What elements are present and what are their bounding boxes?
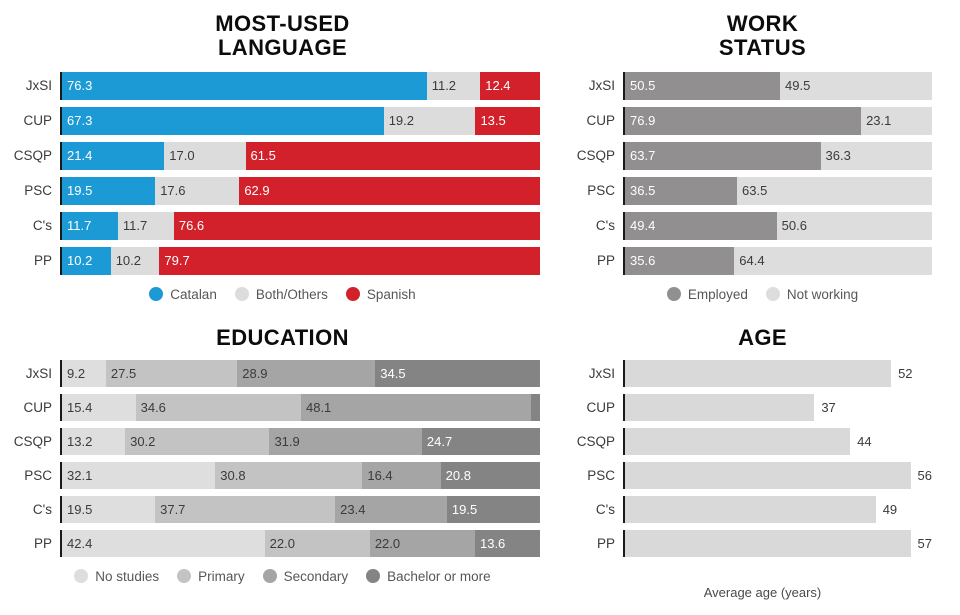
bar-track: 44 (623, 428, 932, 455)
bar-segment-spanish: 12.4 (480, 72, 539, 100)
bar-segment-primary: 30.2 (125, 428, 269, 455)
bar-value-label: 19.2 (384, 113, 414, 128)
bar-segment-bachelor-or-more: 13.6 (475, 530, 540, 557)
chart-row: PP42.422.022.013.6 (0, 528, 565, 559)
chart-row: CSQP13.230.231.924.7 (0, 426, 565, 457)
chart-row: JxSI52 (565, 358, 960, 389)
row-label-jxsi: JxSI (0, 366, 60, 381)
bar-value-label: 50.6 (777, 218, 807, 233)
bar-segment-primary: 30.8 (215, 462, 362, 489)
bar-track: 42.422.022.013.6 (60, 530, 540, 557)
row-label-psc: PSC (0, 468, 60, 483)
chart-title-language-line1: MOST-USED (0, 12, 565, 36)
chart-row: CSQP63.736.3 (565, 140, 960, 172)
chart-title-age: AGE (565, 310, 960, 350)
chart-row: PSC36.563.5 (565, 175, 960, 207)
chart-row: CUP76.923.1 (565, 105, 960, 137)
bar-track: 35.664.4 (623, 247, 932, 275)
bar-segment-both-others: 11.7 (118, 212, 174, 240)
bar-track: 21.417.061.5 (60, 142, 540, 170)
chart-row: PP57 (565, 528, 960, 559)
bar-value-label: 31.9 (269, 434, 299, 449)
bar-segment-bachelor-or-more (531, 394, 540, 421)
chart-row: PP10.210.279.7 (0, 245, 565, 277)
bar-track: 56 (623, 462, 932, 489)
bar-segment-bachelor-or-more: 34.5 (375, 360, 540, 387)
chart-row: CSQP21.417.061.5 (0, 140, 565, 172)
bar-value-label: 49 (876, 496, 897, 523)
bar-value-label: 17.0 (164, 148, 194, 163)
chart-title-age-line1: AGE (565, 326, 960, 350)
bar-track: 76.923.1 (623, 107, 932, 135)
chart-row: C's49.450.6 (565, 210, 960, 242)
bar-segment-not-working: 49.5 (780, 72, 932, 100)
bar-value-label: 63.7 (625, 148, 655, 163)
bar-segment-not-working: 23.1 (861, 107, 932, 135)
bar-segment-spanish: 79.7 (159, 247, 540, 275)
bar-segment-primary: 37.7 (155, 496, 335, 523)
bar-segment-catalan: 21.4 (62, 142, 164, 170)
chart-row: PSC56 (565, 460, 960, 491)
bar-value-label: 30.8 (215, 468, 245, 483)
bar-track: 57 (623, 530, 932, 557)
bar-value-label: 24.7 (422, 434, 452, 449)
row-label-pp: PP (565, 536, 623, 551)
bar-value-label: 37 (814, 394, 835, 421)
bar-segment-secondary: 22.0 (370, 530, 475, 557)
row-label-cup: CUP (0, 400, 60, 415)
bar-value-label: 36.5 (625, 183, 655, 198)
bar-value-label: 28.9 (237, 366, 267, 381)
chart-row: JxSI76.311.212.4 (0, 70, 565, 102)
row-label-cup: CUP (565, 113, 623, 128)
bar-value-label: 22.0 (370, 536, 400, 551)
row-label-cup: CUP (565, 400, 623, 415)
bar-value-label: 11.7 (62, 218, 91, 233)
bar-segment-primary: 22.0 (265, 530, 370, 557)
bar-segment-catalan: 10.2 (62, 247, 111, 275)
legend-language: CatalanBoth/OthersSpanish (0, 287, 565, 302)
bar-value-label: 76.6 (174, 218, 204, 233)
bar-segment-spanish: 76.6 (174, 212, 540, 240)
chart-row: JxSI50.549.5 (565, 70, 960, 102)
chart-panel-work-status: WORK STATUS JxSI50.549.5CUP76.923.1CSQP6… (565, 0, 960, 310)
chart-panel-language: MOST-USED LANGUAGE JxSI76.311.212.4CUP67… (0, 0, 565, 310)
bar-segment-catalan: 76.3 (62, 72, 427, 100)
legend-label: Both/Others (256, 287, 328, 302)
plot-area-language: JxSI76.311.212.4CUP67.319.213.5CSQP21.41… (0, 70, 565, 277)
bar-track: 76.311.212.4 (60, 72, 540, 100)
age-bar (625, 530, 911, 557)
bar-segment-employed: 76.9 (625, 107, 861, 135)
bar-value-label: 9.2 (62, 366, 85, 381)
bar-segment-employed: 63.7 (625, 142, 821, 170)
bar-segment-no-studies: 42.4 (62, 530, 265, 557)
age-bar (625, 462, 911, 489)
bar-value-label: 10.2 (62, 253, 92, 268)
axis-caption-age: Average age (years) (565, 585, 960, 600)
row-label-pp: PP (565, 253, 623, 268)
row-label-cs: C's (565, 218, 623, 233)
row-label-cup: CUP (0, 113, 60, 128)
bar-value-label: 23.1 (861, 113, 891, 128)
legend-swatch-icon (74, 569, 88, 583)
bar-segment-both-others: 19.2 (384, 107, 476, 135)
age-bar (625, 496, 876, 523)
bar-track: 32.130.816.420.8 (60, 462, 540, 489)
row-label-jxsi: JxSI (565, 366, 623, 381)
bar-value-label: 49.5 (780, 78, 810, 93)
bar-value-label: 19.5 (447, 502, 477, 517)
bar-value-label: 61.5 (246, 148, 276, 163)
bar-value-label: 13.6 (475, 536, 505, 551)
bar-track: 19.537.723.419.5 (60, 496, 540, 523)
row-label-csqp: CSQP (0, 148, 60, 163)
chart-title-language-line2: LANGUAGE (0, 36, 565, 60)
bar-value-label: 35.6 (625, 253, 655, 268)
bar-segment-spanish: 13.5 (475, 107, 540, 135)
bar-segment-employed: 35.6 (625, 247, 734, 275)
legend-swatch-icon (346, 287, 360, 301)
bar-value-label: 52 (891, 360, 912, 387)
bar-value-label: 56 (911, 462, 932, 489)
bar-value-label: 21.4 (62, 148, 92, 163)
chart-row: C's49 (565, 494, 960, 525)
bar-value-label: 34.6 (136, 400, 166, 415)
bar-value-label: 34.5 (375, 366, 405, 381)
bar-value-label: 67.3 (62, 113, 92, 128)
row-label-psc: PSC (0, 183, 60, 198)
bar-track: 37 (623, 394, 932, 421)
bar-value-label: 76.3 (62, 78, 92, 93)
age-bar (625, 394, 814, 421)
chart-row: CSQP44 (565, 426, 960, 457)
row-label-jxsi: JxSI (565, 78, 623, 93)
bar-segment-not-working: 63.5 (737, 177, 932, 205)
bar-track: 63.736.3 (623, 142, 932, 170)
bar-segment-no-studies: 15.4 (62, 394, 136, 421)
legend-swatch-icon (235, 287, 249, 301)
chart-title-education: EDUCATION (0, 310, 565, 350)
bar-value-label: 36.3 (821, 148, 851, 163)
bar-segment-secondary: 23.4 (335, 496, 447, 523)
row-label-psc: PSC (565, 183, 623, 198)
bar-value-label: 11.7 (118, 218, 147, 233)
bar-segment-catalan: 11.7 (62, 212, 118, 240)
chart-row: C's11.711.776.6 (0, 210, 565, 242)
bar-segment-primary: 34.6 (136, 394, 301, 421)
legend-swatch-icon (177, 569, 191, 583)
legend-item-primary: Primary (177, 569, 245, 584)
bar-segment-no-studies: 9.2 (62, 360, 106, 387)
bar-value-label: 37.7 (155, 502, 185, 517)
chart-row: PSC19.517.662.9 (0, 175, 565, 207)
chart-title-language: MOST-USED LANGUAGE (0, 0, 565, 60)
bar-value-label: 62.9 (239, 183, 269, 198)
bar-value-label: 50.5 (625, 78, 655, 93)
bar-segment-both-others: 10.2 (111, 247, 160, 275)
chart-panel-education: EDUCATION JxSI9.227.528.934.5CUP15.434.6… (0, 310, 565, 615)
bar-segment-no-studies: 13.2 (62, 428, 125, 455)
bar-segment-catalan: 19.5 (62, 177, 155, 205)
legend-item-not-working: Not working (766, 287, 858, 302)
bar-value-label: 19.5 (62, 183, 92, 198)
chart-panel-age: AGE JxSI52CUP37CSQP44PSC56C's49PP57 Aver… (565, 310, 960, 615)
chart-row: JxSI9.227.528.934.5 (0, 358, 565, 389)
bar-value-label: 48.1 (301, 400, 331, 415)
chart-row: CUP37 (565, 392, 960, 423)
bar-value-label: 32.1 (62, 468, 92, 483)
legend-label: Spanish (367, 287, 416, 302)
chart-row: CUP15.434.648.1 (0, 392, 565, 423)
bar-value-label: 11.2 (427, 78, 456, 93)
legend-item-secondary: Secondary (263, 569, 349, 584)
legend-item-no-studies: No studies (74, 569, 159, 584)
bar-track: 19.517.662.9 (60, 177, 540, 205)
bar-segment-spanish: 62.9 (239, 177, 540, 205)
bar-track: 10.210.279.7 (60, 247, 540, 275)
plot-area-education: JxSI9.227.528.934.5CUP15.434.648.1CSQP13… (0, 358, 565, 559)
legend-swatch-icon (263, 569, 277, 583)
bar-value-label: 44 (850, 428, 871, 455)
bar-segment-bachelor-or-more: 19.5 (447, 496, 540, 523)
bar-value-label: 19.5 (62, 502, 92, 517)
bar-track: 15.434.648.1 (60, 394, 540, 421)
bar-value-label: 76.9 (625, 113, 655, 128)
infographic-page: MOST-USED LANGUAGE JxSI76.311.212.4CUP67… (0, 0, 960, 615)
bar-segment-employed: 36.5 (625, 177, 737, 205)
bar-value-label: 16.4 (362, 468, 392, 483)
row-label-psc: PSC (565, 468, 623, 483)
legend-item-spanish: Spanish (346, 287, 416, 302)
bar-value-label: 10.2 (111, 253, 141, 268)
legend-swatch-icon (149, 287, 163, 301)
bar-value-label: 12.4 (480, 78, 510, 93)
bar-value-label: 64.4 (734, 253, 764, 268)
bar-segment-both-others: 17.6 (155, 177, 239, 205)
chart-row: CUP67.319.213.5 (0, 105, 565, 137)
legend-swatch-icon (766, 287, 780, 301)
legend-item-both-others: Both/Others (235, 287, 328, 302)
bar-track: 11.711.776.6 (60, 212, 540, 240)
legend-label: No studies (95, 569, 159, 584)
bar-segment-secondary: 16.4 (362, 462, 440, 489)
bar-value-label: 23.4 (335, 502, 365, 517)
legend-item-employed: Employed (667, 287, 748, 302)
chart-title-education-line1: EDUCATION (0, 326, 565, 350)
bar-value-label: 22.0 (265, 536, 295, 551)
bar-segment-catalan: 67.3 (62, 107, 384, 135)
row-label-jxsi: JxSI (0, 78, 60, 93)
chart-title-work-line1: WORK (565, 12, 960, 36)
bar-segment-no-studies: 19.5 (62, 496, 155, 523)
bar-segment-no-studies: 32.1 (62, 462, 215, 489)
bar-value-label: 15.4 (62, 400, 92, 415)
chart-title-work-line2: STATUS (565, 36, 960, 60)
row-label-cs: C's (0, 218, 60, 233)
bar-track: 13.230.231.924.7 (60, 428, 540, 455)
bar-value-label: 13.5 (475, 113, 505, 128)
bar-segment-bachelor-or-more: 24.7 (422, 428, 540, 455)
bar-segment-employed: 49.4 (625, 212, 777, 240)
row-label-csqp: CSQP (565, 434, 623, 449)
bar-segment-bachelor-or-more: 20.8 (441, 462, 540, 489)
legend-education: No studiesPrimarySecondaryBachelor or mo… (0, 569, 565, 584)
row-label-pp: PP (0, 536, 60, 551)
bar-segment-not-working: 36.3 (821, 142, 932, 170)
legend-label: Catalan (170, 287, 217, 302)
legend-swatch-icon (366, 569, 380, 583)
bar-value-label: 79.7 (159, 253, 189, 268)
bar-value-label: 63.5 (737, 183, 767, 198)
row-label-pp: PP (0, 253, 60, 268)
bar-segment-spanish: 61.5 (246, 142, 540, 170)
legend-label: Bachelor or more (387, 569, 491, 584)
bar-segment-not-working: 64.4 (734, 247, 932, 275)
bar-track: 49.450.6 (623, 212, 932, 240)
bar-track: 67.319.213.5 (60, 107, 540, 135)
bar-value-label: 13.2 (62, 434, 92, 449)
bar-segment-secondary: 48.1 (301, 394, 531, 421)
bar-value-label: 20.8 (441, 468, 471, 483)
bar-segment-both-others: 11.2 (427, 72, 481, 100)
bar-value-label: 49.4 (625, 218, 655, 233)
legend-label: Not working (787, 287, 858, 302)
bar-value-label: 17.6 (155, 183, 185, 198)
bar-value-label: 42.4 (62, 536, 92, 551)
bar-segment-primary: 27.5 (106, 360, 237, 387)
bar-segment-secondary: 28.9 (237, 360, 375, 387)
legend-swatch-icon (667, 287, 681, 301)
plot-area-age: JxSI52CUP37CSQP44PSC56C's49PP57 (565, 358, 960, 559)
legend-item-bachelor-or-more: Bachelor or more (366, 569, 491, 584)
row-label-csqp: CSQP (0, 434, 60, 449)
chart-title-work-status: WORK STATUS (565, 0, 960, 60)
bar-track: 36.563.5 (623, 177, 932, 205)
plot-area-work-status: JxSI50.549.5CUP76.923.1CSQP63.736.3PSC36… (565, 70, 960, 277)
bar-segment-employed: 50.5 (625, 72, 780, 100)
bar-track: 9.227.528.934.5 (60, 360, 540, 387)
bar-value-label: 57 (911, 530, 932, 557)
row-label-csqp: CSQP (565, 148, 623, 163)
bar-value-label: 27.5 (106, 366, 136, 381)
row-label-cs: C's (0, 502, 60, 517)
legend-work-status: EmployedNot working (565, 287, 960, 302)
bar-value-label: 30.2 (125, 434, 155, 449)
legend-label: Employed (688, 287, 748, 302)
bar-segment-both-others: 17.0 (164, 142, 245, 170)
bar-segment-not-working: 50.6 (777, 212, 932, 240)
age-bar (625, 428, 850, 455)
bar-track: 52 (623, 360, 932, 387)
bar-track: 50.549.5 (623, 72, 932, 100)
chart-row: PSC32.130.816.420.8 (0, 460, 565, 491)
row-label-cs: C's (565, 502, 623, 517)
chart-row: PP35.664.4 (565, 245, 960, 277)
legend-label: Secondary (284, 569, 349, 584)
legend-label: Primary (198, 569, 245, 584)
legend-item-catalan: Catalan (149, 287, 217, 302)
bar-track: 49 (623, 496, 932, 523)
chart-row: C's19.537.723.419.5 (0, 494, 565, 525)
age-bar (625, 360, 891, 387)
bar-segment-secondary: 31.9 (269, 428, 421, 455)
